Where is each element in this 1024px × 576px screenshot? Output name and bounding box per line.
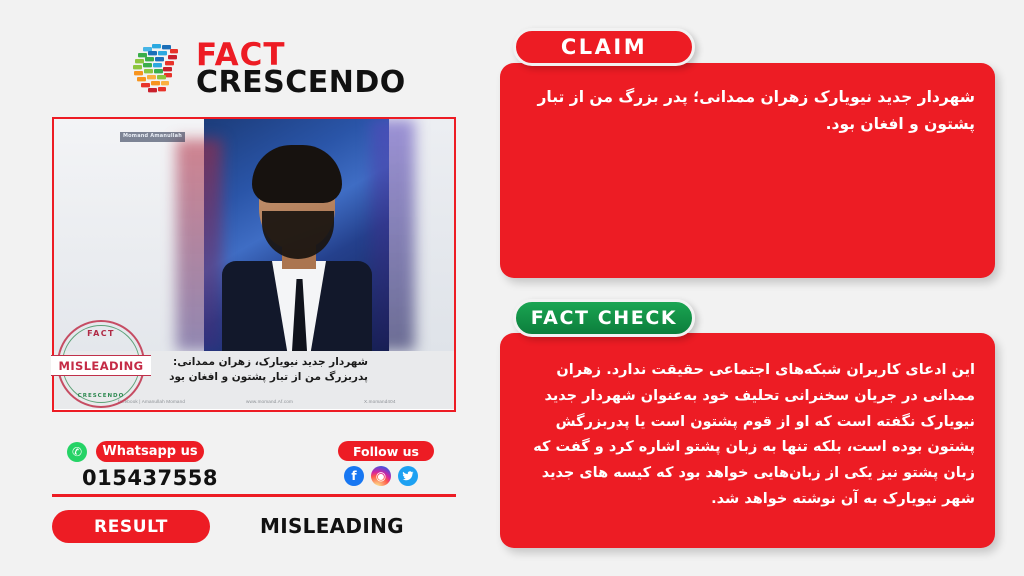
subject-hair (252, 145, 342, 203)
brand-logo: FACT CRESCENDO (128, 30, 388, 108)
result-row: RESULT MISLEADING (52, 510, 456, 546)
misleading-stamp: FACT MISLEADING CRESCENDO (57, 320, 145, 408)
follow-us-button[interactable]: Follow us (338, 441, 434, 461)
whatsapp-icon[interactable]: ✆ (67, 442, 87, 462)
fact-check-text: این ادعای کاربران شبکه‌های اجتماعی حقیقت… (515, 358, 975, 513)
logo-crescendo-text: CRESCENDO (196, 69, 406, 97)
fact-check-graphic: FACT CRESCENDO Momand Amanullah شهردار ج… (0, 0, 1024, 576)
section-divider (52, 494, 456, 497)
left-column: FACT CRESCENDO Momand Amanullah شهردار ج… (0, 0, 480, 576)
social-icons: f ◉ (344, 466, 418, 486)
stamp-bottom-text: CRESCENDO (57, 393, 145, 399)
claim-text: شهردار جدید نیویارک زهران ممدانی؛ پدر بز… (520, 84, 975, 138)
fact-check-badge: FACT CHECK (513, 299, 695, 337)
credit-website: www.momand.Af.com (246, 399, 293, 404)
twitter-icon[interactable] (398, 466, 418, 486)
facebook-icon[interactable]: f (344, 466, 364, 486)
stamp-verdict-band: MISLEADING (51, 355, 151, 376)
stamp-top-text: FACT (57, 329, 145, 338)
credit-x: X.momand404 (364, 399, 396, 404)
result-value: MISLEADING (260, 514, 404, 538)
claim-badge: CLAIM (513, 28, 695, 66)
photo-caption: شهردار جدید نیویارک، زهران ممدانی: پدربز… (132, 355, 368, 385)
whatsapp-number[interactable]: 015437558 (82, 466, 218, 490)
photo-watermark: Momand Amanullah (120, 132, 185, 142)
whatsapp-us-button[interactable]: Whatsapp us (96, 441, 204, 462)
instagram-icon[interactable]: ◉ (371, 466, 391, 486)
result-label: RESULT (52, 510, 210, 543)
contact-row: ✆ Whatsapp us 015437558 Follow us f ◉ (52, 440, 456, 494)
photo-image: Momand Amanullah (54, 119, 454, 351)
stamp-verdict-text: MISLEADING (59, 359, 144, 373)
globe-icon (128, 40, 186, 98)
right-column: CLAIM شهردار جدید نیویارک زهران ممدانی؛ … (480, 0, 1024, 576)
